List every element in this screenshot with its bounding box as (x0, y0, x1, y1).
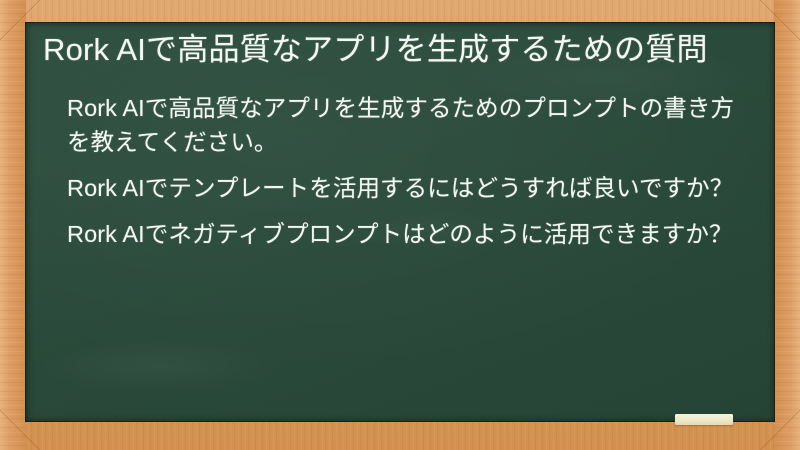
frame-rail-left (0, 0, 26, 450)
chalkboard-slide: Rork AIで高品質なアプリを生成するための質問 Rork AIで高品質なアプ… (0, 0, 800, 450)
question-item-3: Rork AIでネガティブプロンプトはどのように活用できますか？ (67, 218, 743, 251)
chalk-stick (675, 414, 733, 425)
question-item-2: Rork AIでテンプレートを活用するにはどうすれば良いですか？ (67, 172, 743, 205)
chalkboard-surface: Rork AIで高品質なアプリを生成するための質問 Rork AIで高品質なアプ… (25, 22, 775, 422)
question-list: Rork AIで高品質なアプリを生成するためのプロンプトの書き方を教えてください… (39, 92, 753, 251)
frame-rail-right (774, 0, 800, 450)
slide-title: Rork AIで高品質なアプリを生成するための質問 (39, 30, 753, 70)
board-content: Rork AIで高品質なアプリを生成するための質問 Rork AIで高品質なアプ… (25, 22, 775, 252)
question-item-1: Rork AIで高品質なアプリを生成するためのプロンプトの書き方を教えてください… (67, 92, 743, 159)
